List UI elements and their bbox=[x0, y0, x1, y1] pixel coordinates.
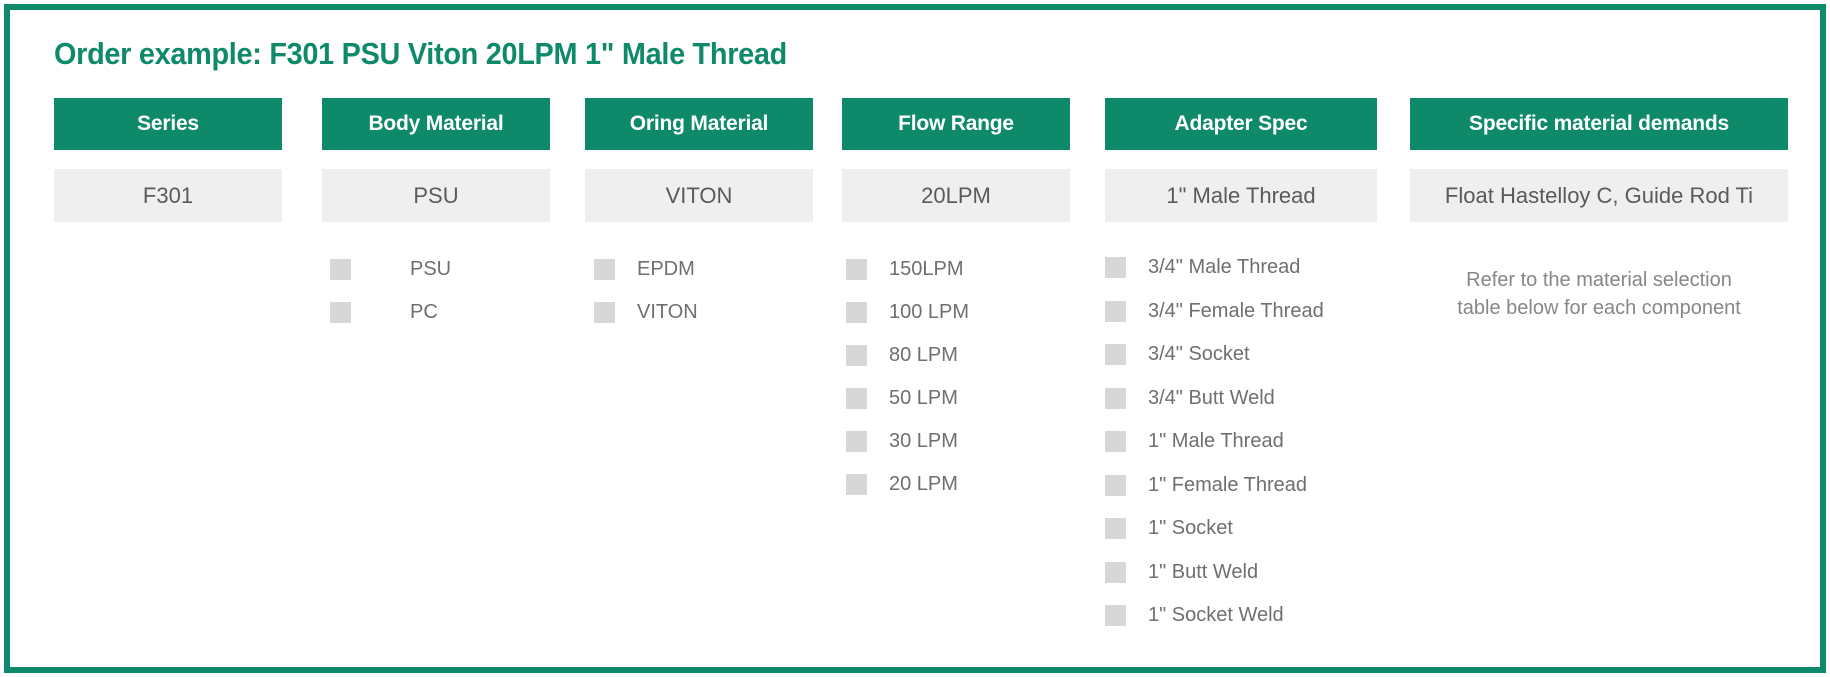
column-header-specific-material-demands: Specific material demands bbox=[1410, 98, 1788, 150]
checkbox-icon[interactable] bbox=[846, 259, 867, 280]
checkbox-icon[interactable] bbox=[1105, 518, 1126, 539]
option-item[interactable]: 3/4" Socket bbox=[1105, 333, 1377, 377]
column-adapter-spec: Adapter Spec 1" Male Thread 3/4" Male Th… bbox=[1105, 98, 1377, 638]
checkbox-icon[interactable] bbox=[594, 302, 615, 323]
option-label: 1" Socket bbox=[1148, 517, 1233, 540]
option-list-body-material: PSU PC bbox=[322, 248, 550, 334]
configurator-columns: Series F301 Body Material PSU PSU PC bbox=[10, 10, 1820, 667]
option-label: 1" Butt Weld bbox=[1148, 561, 1258, 584]
option-item[interactable]: 3/4" Female Thread bbox=[1105, 290, 1377, 334]
option-list-adapter-spec: 3/4" Male Thread 3/4" Female Thread 3/4"… bbox=[1105, 246, 1377, 638]
column-value-body-material: PSU bbox=[322, 169, 550, 222]
option-item[interactable]: VITON bbox=[585, 291, 813, 334]
option-label: 80 LPM bbox=[889, 344, 958, 367]
checkbox-icon[interactable] bbox=[1105, 475, 1126, 496]
option-item[interactable]: PC bbox=[322, 291, 550, 334]
option-item[interactable]: EPDM bbox=[585, 248, 813, 291]
option-list-oring-material: EPDM VITON bbox=[585, 248, 813, 334]
column-value-oring-material: VITON bbox=[585, 169, 813, 222]
note-line-2: table below for each component bbox=[1424, 294, 1774, 322]
checkbox-icon[interactable] bbox=[846, 302, 867, 323]
column-header-flow-range: Flow Range bbox=[842, 98, 1070, 150]
option-item[interactable]: PSU bbox=[322, 248, 550, 291]
option-item[interactable]: 50 LPM bbox=[842, 377, 1070, 420]
column-body-material: Body Material PSU PSU PC bbox=[322, 98, 550, 334]
option-item[interactable]: 20 LPM bbox=[842, 463, 1070, 506]
option-item[interactable]: 30 LPM bbox=[842, 420, 1070, 463]
column-header-adapter-spec: Adapter Spec bbox=[1105, 98, 1377, 150]
panel-frame: Order example: F301 PSU Viton 20LPM 1" M… bbox=[4, 4, 1826, 673]
checkbox-icon[interactable] bbox=[1105, 344, 1126, 365]
option-item[interactable]: 1" Socket Weld bbox=[1105, 594, 1377, 638]
option-item[interactable]: 3/4" Butt Weld bbox=[1105, 377, 1377, 421]
checkbox-icon[interactable] bbox=[1105, 301, 1126, 322]
checkbox-icon[interactable] bbox=[330, 259, 351, 280]
option-item[interactable]: 80 LPM bbox=[842, 334, 1070, 377]
column-header-oring-material: Oring Material bbox=[585, 98, 813, 150]
option-list-flow-range: 150LPM 100 LPM 80 LPM 50 LPM bbox=[842, 248, 1070, 506]
option-label: 20 LPM bbox=[889, 473, 958, 496]
order-example-panel: Order example: F301 PSU Viton 20LPM 1" M… bbox=[0, 0, 1830, 677]
option-label: VITON bbox=[637, 301, 698, 324]
checkbox-icon[interactable] bbox=[594, 259, 615, 280]
checkbox-icon[interactable] bbox=[1105, 605, 1126, 626]
checkbox-icon[interactable] bbox=[846, 388, 867, 409]
column-flow-range: Flow Range 20LPM 150LPM 100 LPM 80 LPM bbox=[842, 98, 1070, 506]
column-specific-material-demands: Specific material demands Float Hastello… bbox=[1410, 98, 1788, 323]
option-item[interactable]: 1" Butt Weld bbox=[1105, 551, 1377, 595]
option-label: 1" Female Thread bbox=[1148, 474, 1307, 497]
option-item[interactable]: 1" Male Thread bbox=[1105, 420, 1377, 464]
checkbox-icon[interactable] bbox=[1105, 562, 1126, 583]
option-label: 1" Socket Weld bbox=[1148, 604, 1284, 627]
note-line-1: Refer to the material selection bbox=[1424, 266, 1774, 294]
option-item[interactable]: 1" Socket bbox=[1105, 507, 1377, 551]
option-label: 3/4" Socket bbox=[1148, 343, 1250, 366]
option-label: 3/4" Female Thread bbox=[1148, 300, 1324, 323]
option-label: 150LPM bbox=[889, 258, 964, 281]
option-item[interactable]: 150LPM bbox=[842, 248, 1070, 291]
option-label: 100 LPM bbox=[889, 301, 969, 324]
checkbox-icon[interactable] bbox=[846, 474, 867, 495]
option-label: 50 LPM bbox=[889, 387, 958, 410]
column-value-specific-material-demands: Float Hastelloy C, Guide Rod Ti bbox=[1410, 169, 1788, 222]
option-label: 30 LPM bbox=[889, 430, 958, 453]
column-header-series: Series bbox=[54, 98, 282, 150]
column-value-flow-range: 20LPM bbox=[842, 169, 1070, 222]
checkbox-icon[interactable] bbox=[1105, 257, 1126, 278]
column-value-adapter-spec: 1" Male Thread bbox=[1105, 169, 1377, 222]
option-item[interactable]: 100 LPM bbox=[842, 291, 1070, 334]
checkbox-icon[interactable] bbox=[846, 431, 867, 452]
column-series: Series F301 bbox=[54, 98, 282, 222]
column-oring-material: Oring Material VITON EPDM VITON bbox=[585, 98, 813, 334]
checkbox-icon[interactable] bbox=[846, 345, 867, 366]
column-value-series: F301 bbox=[54, 169, 282, 222]
option-item[interactable]: 3/4" Male Thread bbox=[1105, 246, 1377, 290]
option-label: PC bbox=[410, 301, 438, 324]
material-selection-note: Refer to the material selection table be… bbox=[1410, 266, 1788, 323]
option-label: 3/4" Male Thread bbox=[1148, 256, 1300, 279]
checkbox-icon[interactable] bbox=[1105, 431, 1126, 452]
checkbox-icon[interactable] bbox=[1105, 388, 1126, 409]
option-label: 3/4" Butt Weld bbox=[1148, 387, 1275, 410]
column-header-body-material: Body Material bbox=[322, 98, 550, 150]
checkbox-icon[interactable] bbox=[330, 302, 351, 323]
option-label: 1" Male Thread bbox=[1148, 430, 1284, 453]
option-item[interactable]: 1" Female Thread bbox=[1105, 464, 1377, 508]
option-label: EPDM bbox=[637, 258, 695, 281]
option-label: PSU bbox=[410, 258, 451, 281]
